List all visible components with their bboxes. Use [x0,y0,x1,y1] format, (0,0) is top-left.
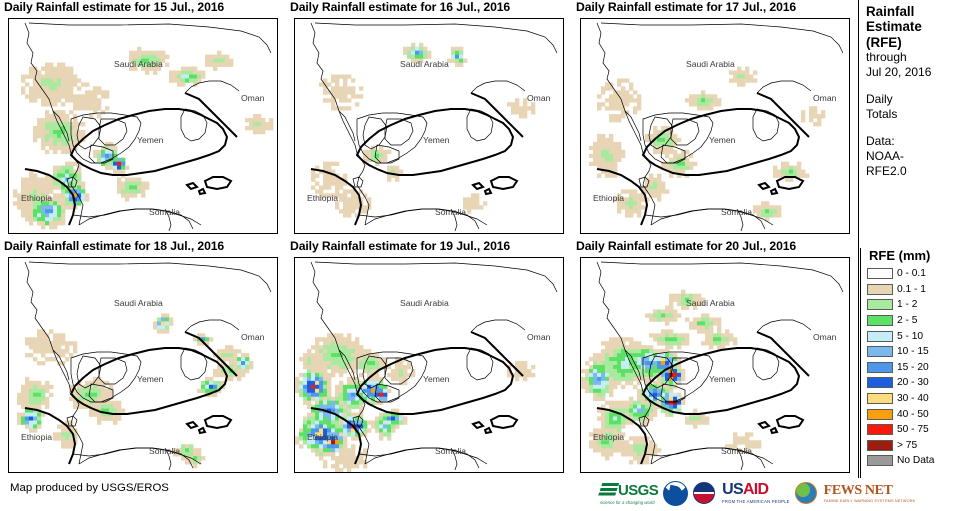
legend-label: 10 - 15 [897,346,929,357]
legend-swatch [867,455,893,466]
legend-swatch [867,393,893,404]
legend-title-line2: Estimate [866,19,966,34]
legend-row: 50 - 75 [867,422,967,438]
map-credit: Map produced by USGS/EROS [10,482,169,494]
svg-text:Yemen: Yemen [709,374,736,384]
panel-title: Daily Rainfall estimate for 17 Jul., 201… [572,0,853,14]
map-panel: Daily Rainfall estimate for 19 Jul., 201… [286,239,567,477]
legend-swatch [867,409,893,420]
map-panel: Daily Rainfall estimate for 17 Jul., 201… [572,0,853,238]
legend-label: 20 - 30 [897,377,929,388]
usgs-logo[interactable]: USGS science for a changing world [600,481,658,505]
legend-swatch [867,440,893,451]
legend-row: No Data [867,453,967,469]
map-canvas[interactable]: Saudi ArabiaOmanYemenEthiopiaSomalia [581,19,849,233]
map-frame[interactable]: Saudi ArabiaOmanYemenEthiopiaSomalia [8,257,278,473]
map-panel: Daily Rainfall estimate for 18 Jul., 201… [0,239,281,477]
legend-row: > 75 [867,438,967,454]
legend-row: 1 - 2 [867,297,967,313]
legend-title-line3: (RFE) [866,35,966,50]
legend-label: 0 - 0.1 [897,268,926,279]
svg-text:Ethiopia: Ethiopia [593,432,624,442]
svg-text:Somalia: Somalia [721,446,752,456]
svg-text:Somalia: Somalia [721,207,752,217]
legend-data-label: Data: [866,134,966,149]
legend-daily-label: Daily [866,92,966,107]
legend-spacer-1 [866,80,966,92]
fews-net-globe-icon[interactable] [795,482,817,504]
legend-row: 2 - 5 [867,313,967,329]
svg-text:Oman: Oman [241,93,265,103]
legend-row: 40 - 50 [867,406,967,422]
rfe-legend-title: RFE (mm) [869,248,967,263]
svg-text:Saudi Arabia: Saudi Arabia [114,298,163,308]
map-panel-grid: Daily Rainfall estimate for 15 Jul., 201… [0,0,858,478]
legend-swatch [867,377,893,388]
svg-text:Saudi Arabia: Saudi Arabia [686,298,735,308]
svg-text:Ethiopia: Ethiopia [21,432,52,442]
legend-label: > 75 [897,440,917,451]
svg-text:Oman: Oman [527,332,551,342]
rfe-legend-items: 0 - 0.10.1 - 11 - 22 - 55 - 1010 - 1515 … [861,266,967,469]
legend-label: 0.1 - 1 [897,284,926,295]
svg-text:Ethiopia: Ethiopia [593,193,624,203]
usaid-seal-icon[interactable] [693,482,715,504]
legend-header: Rainfall Estimate (RFE) through Jul 20, … [866,4,966,179]
map-canvas[interactable]: Saudi ArabiaOmanYemenEthiopiaSomalia [9,19,277,233]
legend-label: 40 - 50 [897,409,929,420]
svg-text:Somalia: Somalia [149,207,180,217]
legend-swatch [867,362,893,373]
map-frame[interactable]: Saudi ArabiaOmanYemenEthiopiaSomalia [294,18,564,234]
legend-row: 5 - 10 [867,328,967,344]
map-frame[interactable]: Saudi ArabiaOmanYemenEthiopiaSomalia [8,18,278,234]
legend-label: 50 - 75 [897,424,929,435]
svg-text:Saudi Arabia: Saudi Arabia [400,59,449,69]
fews-net-wordmark: FEWS NET [824,484,916,498]
map-canvas[interactable]: Saudi ArabiaOmanYemenEthiopiaSomalia [295,258,563,472]
legend-row: 15 - 20 [867,360,967,376]
legend-swatch [867,346,893,357]
map-canvas[interactable]: Saudi ArabiaOmanYemenEthiopiaSomalia [581,258,849,472]
svg-text:Somalia: Somalia [149,446,180,456]
map-canvas[interactable]: Saudi ArabiaOmanYemenEthiopiaSomalia [295,19,563,233]
noaa-seal-icon[interactable] [663,481,688,506]
legend-swatch [867,331,893,342]
legend-divider [858,0,859,478]
legend-label: 15 - 20 [897,362,929,373]
legend-swatch [867,299,893,310]
map-canvas[interactable]: Saudi ArabiaOmanYemenEthiopiaSomalia [9,258,277,472]
legend-label: 2 - 5 [897,315,917,326]
panel-title: Daily Rainfall estimate for 18 Jul., 201… [0,239,281,253]
svg-text:Yemen: Yemen [137,374,164,384]
rfe-legend: RFE (mm) 0 - 0.10.1 - 11 - 22 - 55 - 101… [860,248,967,478]
svg-text:Saudi Arabia: Saudi Arabia [686,59,735,69]
panel-title: Daily Rainfall estimate for 16 Jul., 201… [286,0,567,14]
map-panel: Daily Rainfall estimate for 15 Jul., 201… [0,0,281,238]
svg-text:Somalia: Somalia [435,446,466,456]
panel-title: Daily Rainfall estimate for 20 Jul., 201… [572,239,853,253]
svg-text:Oman: Oman [813,332,837,342]
legend-swatch [867,315,893,326]
legend-data-source-1: NOAA- [866,149,966,164]
fews-net-tagline: FAMINE EARLY WARNING SYSTEMS NETWORK [824,499,916,503]
svg-text:Yemen: Yemen [709,135,736,145]
panel-title: Daily Rainfall estimate for 19 Jul., 201… [286,239,567,253]
map-frame[interactable]: Saudi ArabiaOmanYemenEthiopiaSomalia [580,18,850,234]
svg-text:Ethiopia: Ethiopia [307,432,338,442]
svg-text:Saudi Arabia: Saudi Arabia [400,298,449,308]
legend-label: 1 - 2 [897,299,917,310]
legend-data-source-2: RFE2.0 [866,164,966,179]
map-panel: Daily Rainfall estimate for 16 Jul., 201… [286,0,567,238]
legend-swatch [867,268,893,279]
agency-logo-strip: USGS science for a changing world USAID … [600,479,915,507]
svg-text:Ethiopia: Ethiopia [21,193,52,203]
svg-text:Oman: Oman [813,93,837,103]
legend-swatch [867,284,893,295]
svg-text:Saudi Arabia: Saudi Arabia [114,59,163,69]
panel-title: Daily Rainfall estimate for 15 Jul., 201… [0,0,281,14]
usaid-logo[interactable]: USAID FROM THE AMERICAN PEOPLE [722,481,790,505]
legend-row: 20 - 30 [867,375,967,391]
svg-text:Ethiopia: Ethiopia [307,193,338,203]
svg-text:Oman: Oman [527,93,551,103]
legend-label: 30 - 40 [897,393,929,404]
legend-through-label: through [866,50,966,65]
legend-column: Rainfall Estimate (RFE) through Jul 20, … [858,0,967,478]
map-panel: Daily Rainfall estimate for 20 Jul., 201… [572,239,853,477]
usgs-wave-icon [598,483,620,497]
fews-net-logo[interactable]: FEWS NET FAMINE EARLY WARNING SYSTEMS NE… [824,481,916,505]
legend-row: 0 - 0.1 [867,266,967,282]
usaid-tagline: FROM THE AMERICAN PEOPLE [722,499,790,504]
map-frame[interactable]: Saudi ArabiaOmanYemenEthiopiaSomalia [294,257,564,473]
legend-title-line1: Rainfall [866,4,966,19]
svg-text:Oman: Oman [241,332,265,342]
usaid-wordmark-aid: AID [743,481,768,498]
usgs-wordmark: USGS [618,482,658,499]
legend-row: 10 - 15 [867,344,967,360]
svg-text:Yemen: Yemen [423,374,450,384]
legend-label: No Data [897,455,934,466]
svg-text:Yemen: Yemen [137,135,164,145]
svg-text:Somalia: Somalia [435,207,466,217]
legend-row: 30 - 40 [867,391,967,407]
usaid-wordmark-us: US [722,481,743,498]
legend-swatch [867,424,893,435]
legend-through-date: Jul 20, 2016 [866,65,966,80]
legend-row: 0.1 - 1 [867,282,967,298]
legend-totals-label: Totals [866,107,966,122]
map-frame[interactable]: Saudi ArabiaOmanYemenEthiopiaSomalia [580,257,850,473]
legend-label: 5 - 10 [897,331,923,342]
usgs-tagline: science for a changing world [600,500,658,505]
svg-text:Yemen: Yemen [423,135,450,145]
legend-spacer-2 [866,122,966,134]
